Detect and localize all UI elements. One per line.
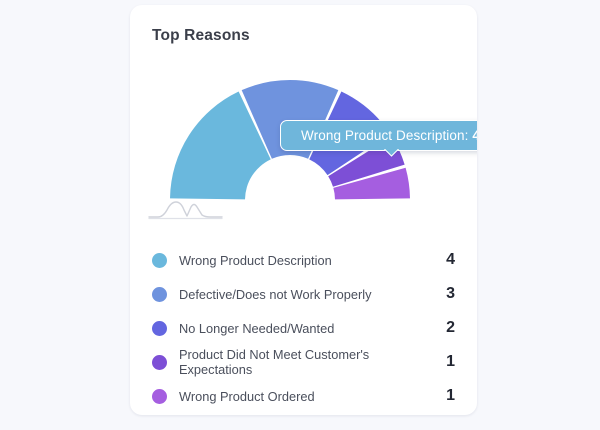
legend-item-value: 1 — [421, 353, 455, 371]
legend-item[interactable]: Defective/Does not Work Properly3 — [152, 277, 455, 311]
legend-color-dot — [152, 321, 167, 336]
top-reasons-card: Top Reasons Wrong Product Description: 4… — [130, 5, 477, 415]
wave-sparkline-svg — [148, 197, 226, 223]
chart-tooltip-text: Wrong Product Description: 4 — [301, 128, 477, 143]
legend-item-label: Wrong Product Ordered — [179, 389, 421, 404]
legend-item-label: No Longer Needed/Wanted — [179, 321, 421, 336]
legend-item-label: Wrong Product Description — [179, 253, 421, 268]
chart-tooltip: Wrong Product Description: 4 — [280, 120, 477, 151]
legend-item[interactable]: No Longer Needed/Wanted2 — [152, 311, 455, 345]
legend-item[interactable]: Wrong Product Description4 — [152, 243, 455, 277]
legend-item-value: 1 — [421, 387, 455, 405]
chart-legend: Wrong Product Description4Defective/Does… — [152, 243, 455, 413]
chart-tooltip-caret — [383, 149, 399, 158]
legend-item-label: Product Did Not Meet Customer's Expectat… — [179, 347, 421, 377]
legend-item-label: Defective/Does not Work Properly — [179, 287, 421, 302]
legend-item[interactable]: Product Did Not Meet Customer's Expectat… — [152, 345, 455, 379]
legend-color-dot — [152, 355, 167, 370]
legend-color-dot — [152, 253, 167, 268]
legend-color-dot — [152, 287, 167, 302]
legend-item[interactable]: Wrong Product Ordered1 — [152, 379, 455, 413]
legend-item-value: 2 — [421, 319, 455, 337]
legend-color-dot — [152, 389, 167, 404]
legend-item-value: 3 — [421, 285, 455, 303]
chart-tooltip-value: 4 — [472, 128, 477, 143]
legend-item-value: 4 — [421, 251, 455, 269]
wave-sparkline-icon — [148, 197, 226, 223]
page-title: Top Reasons — [152, 27, 250, 45]
